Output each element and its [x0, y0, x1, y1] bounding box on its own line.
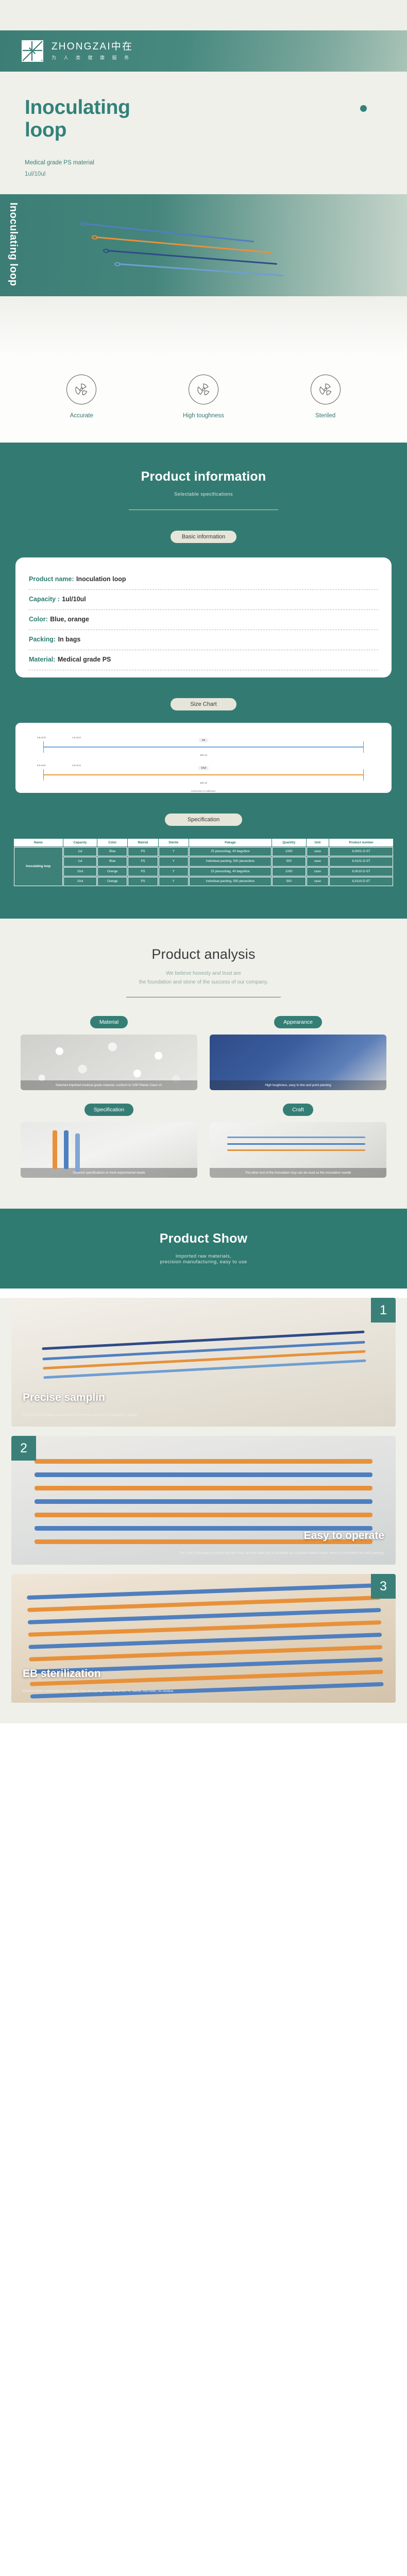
- cell-sterile: Y: [159, 867, 189, 876]
- info-key: Material:: [29, 656, 55, 663]
- cell-matrial: PS: [128, 867, 158, 876]
- specification-table: Name Capacity Color Matrial Sterile Paka…: [13, 838, 394, 887]
- analysis-card-specification: Specification Different specifications t…: [21, 1104, 197, 1178]
- size-chart-card: 3.5 ±0.5 1.5 ±0.3 1ul 181 ±2 5.0 ±0.5 1.…: [15, 723, 392, 793]
- cell-color: Orange: [97, 877, 127, 886]
- section-title: Product information: [0, 469, 407, 484]
- hero-subtitle: Medical grade PS material 1ul/10ul: [0, 158, 407, 180]
- show-number-badge: 3: [371, 1574, 396, 1599]
- feature-item-high-toughness: High toughness: [165, 375, 242, 419]
- table-row: Inoculating loop 1ul Blue PS Y 25 pieces…: [14, 847, 393, 856]
- feature-item-steriled: Steriled: [287, 375, 364, 419]
- cell-quantity: 500: [272, 877, 306, 886]
- analysis-card-grid: Material Selected imported medical grade…: [0, 997, 407, 1178]
- inoculation-needle-photo: The other end of the inoculation loop ca…: [210, 1122, 386, 1178]
- section-subtitle: We believe honesty and trust are the fou…: [0, 970, 407, 987]
- show-item-title: EB sterilization: [23, 1668, 101, 1680]
- dim-badge: 1ul: [199, 738, 209, 742]
- subtitle-line2: precision manufacturing, easy to use: [0, 1259, 407, 1265]
- info-key: Capacity :: [29, 596, 60, 603]
- cell-quantity: 1000: [272, 867, 306, 876]
- table-header-row: Name Capacity Color Matrial Sterile Paka…: [14, 839, 393, 846]
- specification-pill: Specification: [165, 814, 242, 826]
- section-title: Product Show: [0, 1231, 407, 1246]
- show-item-description: Ring mouth is initially measured to impr…: [23, 1413, 384, 1418]
- cell-color: Blue: [97, 857, 127, 866]
- radiation-icon: [311, 375, 341, 404]
- section-subtitle: Selectable specifications: [0, 492, 407, 497]
- gloved-hand-photo: High toughness, easy to line and point p…: [210, 1035, 386, 1090]
- plastic-pellets-photo: Selected imported medical grade material…: [21, 1035, 197, 1090]
- show-item-3: 3 EB sterilization Electron beam sterili…: [11, 1574, 396, 1703]
- feature-list: Accurate High toughness: [0, 360, 407, 443]
- radiation-icon: [189, 375, 218, 404]
- cell-matrial: PS: [128, 857, 158, 866]
- cell-name: Inoculating loop: [14, 847, 63, 886]
- analysis-card-appearance: Appearance High toughness, easy to line …: [210, 1016, 386, 1090]
- dim-right-label: 1.5 ±0.3: [72, 736, 81, 739]
- th-color: Color: [97, 839, 127, 846]
- dim-badge: 10ul: [198, 766, 209, 770]
- cell-matrial: PS: [128, 877, 158, 886]
- size-chart-caption: Dimension in millimeter: [23, 790, 384, 792]
- feature-label: High toughness: [165, 413, 242, 419]
- cell-sterile: Y: [159, 847, 189, 856]
- info-key: Color:: [29, 616, 48, 623]
- th-name: Name: [14, 839, 63, 846]
- th-pakage: Pakage: [189, 839, 272, 846]
- size-chart-row-10ul: 5.0 ±0.5 1.5 ±0.3 10ul 181 ±2: [23, 762, 384, 787]
- show-item-description: The front of the loop is smooth and burr…: [23, 1551, 384, 1556]
- info-value: In bags: [58, 636, 81, 643]
- hero-sub-line2: 1ul/10ul: [25, 169, 407, 180]
- hero-section: Inoculating loop Medical grade PS materi…: [0, 72, 407, 360]
- feature-label: Steriled: [287, 413, 364, 419]
- show-item-title: Precise samplin: [23, 1392, 105, 1404]
- info-key: Packing:: [29, 636, 56, 643]
- analysis-card-material: Material Selected imported medical grade…: [21, 1016, 197, 1090]
- info-value: 1ul/10ul: [62, 596, 86, 603]
- analysis-tag: Appearance: [274, 1016, 322, 1028]
- basic-information-card: Product name: Inoculation loop Capacity …: [15, 557, 392, 677]
- brand-name-en: ZHONGZAI: [52, 41, 111, 52]
- hero-loop-illustration: [70, 216, 399, 278]
- dim-line-blue: [43, 747, 364, 748]
- info-row: Product name: Inoculation loop: [29, 570, 378, 590]
- cell-unit: case: [307, 877, 329, 886]
- analysis-caption: Different specifications to meet experim…: [21, 1168, 197, 1178]
- zhongzai-logo-mark-icon: [22, 40, 43, 62]
- cell-sterile: Y: [159, 877, 189, 886]
- cell-matrial: PS: [128, 847, 158, 856]
- product-information-section: Product information Selectable specifica…: [0, 443, 407, 919]
- hero-product-banner: Inoculating loop: [0, 194, 407, 296]
- th-matrial: Matrial: [128, 839, 158, 846]
- show-item-2: 2 Easy to operate The front of the loop …: [11, 1436, 396, 1565]
- show-number-badge: 2: [11, 1436, 36, 1461]
- hero-fade: [0, 296, 407, 360]
- dim-total-label: 181 ±2: [200, 754, 207, 756]
- brand-header: ZHONGZAI中在 为 人 类 健 康 服 务: [0, 30, 407, 72]
- cell-capacity: 10ul: [63, 867, 97, 876]
- hero-sub-line1: Medical grade PS material: [25, 158, 407, 169]
- basic-information-pill: Basic information: [171, 531, 236, 543]
- analysis-tag: Material: [90, 1016, 128, 1028]
- cell-pakage: 25 pieces/bag, 40 bags/box: [189, 847, 272, 856]
- page-title: Inoculating loop: [0, 96, 155, 141]
- loops-specification-photo: Different specifications to meet experim…: [21, 1122, 197, 1178]
- cell-quantity: 500: [272, 857, 306, 866]
- cell-capacity: 1ul: [63, 857, 97, 866]
- show-item-description: Electron beam sterilization is non-toxic…: [23, 1689, 384, 1694]
- cell-capacity: 10ul: [63, 877, 97, 886]
- cell-product-number: IL0001-D-ST: [329, 847, 393, 856]
- cell-product-number: IL0101-D-ST: [329, 857, 393, 866]
- table-row: 10ul Orange PS Y Individual packing, 500…: [14, 877, 393, 886]
- th-capacity: Capacity: [63, 839, 97, 846]
- cell-sterile: Y: [159, 857, 189, 866]
- cell-unit: case: [307, 857, 329, 866]
- cell-quantity: 1000: [272, 847, 306, 856]
- product-show-section: 1 Precise samplin Ring mouth is initiall…: [0, 1298, 407, 1723]
- size-chart-pill: Size Chart: [171, 698, 236, 710]
- cell-pakage: Individual packing, 500 pieces/box: [189, 877, 272, 886]
- show-item-title: Easy to operate: [304, 1530, 384, 1542]
- section-subtitle: Imported raw materials, precision manufa…: [0, 1253, 407, 1265]
- top-spacer: [0, 0, 407, 30]
- dim-total-label: 181 ±2: [200, 782, 207, 784]
- product-analysis-section: Product analysis We believe honesty and …: [0, 919, 407, 1209]
- th-product-number: Product number: [329, 839, 393, 846]
- show-item-1: 1 Precise samplin Ring mouth is initiall…: [11, 1298, 396, 1427]
- subtitle-line1: We believe honesty and trust are: [0, 970, 407, 978]
- th-unit: Unit: [307, 839, 329, 846]
- section-title: Product analysis: [0, 946, 407, 962]
- hero-accent-dot: [360, 105, 367, 112]
- cell-unit: case: [307, 867, 329, 876]
- cell-color: Blue: [97, 847, 127, 856]
- info-value: Medical grade PS: [58, 656, 111, 663]
- cell-pakage: Individual packing, 500 pieces/box: [189, 857, 272, 866]
- product-page: ZHONGZAI中在 为 人 类 健 康 服 务 Inoculating loo…: [0, 0, 407, 1723]
- info-value: Inoculation loop: [76, 575, 126, 583]
- cell-pakage: 25 pieces/bag, 40 bags/box: [189, 867, 272, 876]
- dim-left-label: 5.0 ±0.5: [37, 764, 46, 767]
- info-row: Color: Blue, orange: [29, 610, 378, 630]
- info-key: Product name:: [29, 575, 74, 583]
- analysis-caption: High toughness, easy to line and point p…: [210, 1080, 386, 1090]
- divider: [129, 510, 278, 510]
- info-row: Capacity : 1ul/10ul: [29, 590, 378, 610]
- info-row: Material: Medical grade PS: [29, 650, 378, 670]
- subtitle-line1: Imported raw materials,: [0, 1253, 407, 1259]
- feature-item-accurate: Accurate: [43, 375, 120, 419]
- cell-product-number: IL0110-D-ST: [329, 877, 393, 886]
- cell-unit: case: [307, 847, 329, 856]
- product-show-header: Product Show Imported raw materials, pre…: [0, 1209, 407, 1289]
- radiation-icon: [66, 375, 96, 404]
- dim-tick: [363, 769, 364, 781]
- cell-capacity: 1ul: [63, 847, 97, 856]
- dim-tick: [43, 741, 44, 753]
- logo-wrap[interactable]: ZHONGZAI中在 为 人 类 健 康 服 务: [0, 40, 133, 62]
- eb-sterilization-photo: 3 EB sterilization Electron beam sterili…: [11, 1574, 396, 1703]
- analysis-caption: Selected imported medical grade material…: [21, 1080, 197, 1090]
- hero-vertical-label: Inoculating loop: [7, 202, 19, 288]
- brand-name-cn: 中在: [111, 41, 133, 52]
- dim-tick: [43, 769, 44, 781]
- easy-to-operate-photo: 2 Easy to operate The front of the loop …: [11, 1436, 396, 1565]
- analysis-caption: The other end of the inoculation loop ca…: [210, 1168, 386, 1178]
- analysis-tag: Craft: [283, 1104, 313, 1116]
- th-quantity: Quantity: [272, 839, 306, 846]
- th-sterile: Sterile: [159, 839, 189, 846]
- show-number-badge: 1: [371, 1298, 396, 1323]
- size-chart-row-1ul: 3.5 ±0.5 1.5 ±0.3 1ul 181 ±2: [23, 734, 384, 759]
- brand-tagline: 为 人 类 健 康 服 务: [52, 54, 133, 61]
- dim-tick: [363, 741, 364, 753]
- dim-line-orange: [43, 774, 364, 775]
- analysis-card-craft: Craft The other end of the inoculation l…: [210, 1104, 386, 1178]
- analysis-tag: Specification: [84, 1104, 134, 1116]
- cell-color: Orange: [97, 867, 127, 876]
- table-row: 10ul Orange PS Y 25 pieces/bag, 40 bags/…: [14, 867, 393, 876]
- precise-sampling-photo: 1 Precise samplin Ring mouth is initiall…: [11, 1298, 396, 1427]
- table-row: 1ul Blue PS Y Individual packing, 500 pi…: [14, 857, 393, 866]
- dim-right-label: 1.5 ±0.3: [72, 764, 81, 767]
- dim-left-label: 3.5 ±0.5: [37, 736, 46, 739]
- info-row: Packing: In bags: [29, 630, 378, 650]
- info-value: Blue, orange: [50, 616, 89, 623]
- subtitle-line2: the foundation and stone of the success …: [0, 978, 407, 987]
- feature-label: Accurate: [43, 413, 120, 419]
- cell-product-number: IL0010-D-ST: [329, 867, 393, 876]
